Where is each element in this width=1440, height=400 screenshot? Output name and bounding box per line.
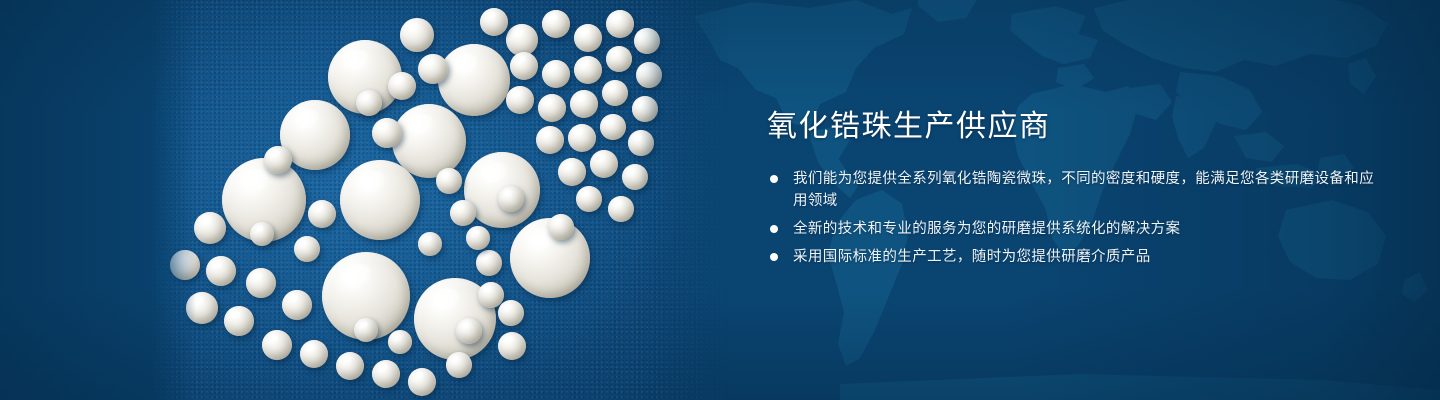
bead-small <box>606 46 632 72</box>
bead-medium <box>408 368 436 396</box>
bead-small <box>632 96 658 122</box>
bead-small <box>542 10 570 38</box>
bead-small <box>568 124 596 152</box>
list-item: 全新的技术和专业的服务为您的研磨提供系统化的解决方案 <box>767 218 1387 240</box>
bead-small <box>602 80 628 106</box>
bead-medium <box>356 90 382 116</box>
bead-small <box>446 352 472 378</box>
bead-small <box>608 196 634 222</box>
bead-medium <box>418 232 442 256</box>
feature-list: 我们能为您提供全系列氧化锆陶瓷微珠，不同的密度和硬度，能满足您各类研磨设备和应用… <box>767 168 1387 268</box>
bead-medium <box>194 212 226 244</box>
zirconia-beads-photo <box>150 0 730 400</box>
bead-small <box>354 318 378 342</box>
bullet-dot-icon <box>770 225 778 233</box>
list-item: 我们能为您提供全系列氧化锆陶瓷微珠，不同的密度和硬度，能满足您各类研磨设备和应用… <box>767 168 1387 212</box>
bead-small <box>590 150 618 178</box>
list-item-label: 全新的技术和专业的服务为您的研磨提供系统化的解决方案 <box>793 218 1387 240</box>
bead-medium <box>456 318 482 344</box>
bead-medium <box>372 360 400 388</box>
bullet-dot-icon <box>770 175 778 183</box>
bead-small <box>480 8 508 36</box>
promo-banner: 氧化锆珠生产供应商 我们能为您提供全系列氧化锆陶瓷微珠，不同的密度和硬度，能满足… <box>0 0 1440 400</box>
bead-medium <box>224 306 254 336</box>
page-title: 氧化锆珠生产供应商 <box>767 108 1387 146</box>
list-item-label: 采用国际标准的生产工艺，随时为您提供研磨介质产品 <box>793 246 1387 268</box>
bead-small <box>498 186 524 212</box>
list-item: 采用国际标准的生产工艺，随时为您提供研磨介质产品 <box>767 246 1387 268</box>
bead-medium <box>498 332 526 360</box>
bead-small <box>498 300 524 326</box>
bead-medium <box>418 54 448 84</box>
bead-medium <box>372 118 402 148</box>
bead-small <box>622 164 648 190</box>
bead-small <box>510 52 538 80</box>
bullet-dot-icon <box>770 253 778 261</box>
bead-medium <box>206 256 236 286</box>
bead-small <box>634 28 660 54</box>
bead-medium <box>294 236 320 262</box>
bead-medium <box>250 222 274 246</box>
bead-medium <box>300 340 328 368</box>
bead-medium <box>246 268 276 298</box>
bead-small <box>558 158 586 186</box>
bead-small <box>538 94 566 122</box>
bead-small <box>466 226 490 250</box>
bead-small <box>506 86 534 114</box>
bead-small <box>606 10 634 38</box>
bead-small <box>548 214 574 240</box>
bead-medium <box>336 352 364 380</box>
bead-small <box>436 168 462 194</box>
bead-medium <box>388 72 416 100</box>
bead-medium <box>170 250 200 280</box>
bead-medium <box>450 200 476 226</box>
bead-medium <box>476 250 502 276</box>
bead-small <box>600 114 626 140</box>
bead-medium <box>400 18 434 52</box>
bead-small <box>570 90 598 118</box>
bead-small <box>636 62 662 88</box>
bead-small <box>388 330 412 354</box>
bead-small <box>542 60 570 88</box>
bead-large <box>340 160 420 240</box>
bead-medium <box>264 146 292 174</box>
bead-medium <box>186 292 218 324</box>
bead-medium <box>262 330 292 360</box>
bead-small <box>628 130 654 156</box>
bead-large <box>438 44 510 116</box>
bead-small <box>536 126 564 154</box>
banner-copy: 氧化锆珠生产供应商 我们能为您提供全系列氧化锆陶瓷微珠，不同的密度和硬度，能满足… <box>767 108 1387 274</box>
list-item-label: 我们能为您提供全系列氧化锆陶瓷微珠，不同的密度和硬度，能满足您各类研磨设备和应用… <box>793 168 1387 212</box>
bead-small <box>574 56 602 84</box>
bead-small <box>576 186 602 212</box>
bead-medium <box>308 200 336 228</box>
bead-small <box>574 24 602 52</box>
bead-medium <box>282 290 312 320</box>
